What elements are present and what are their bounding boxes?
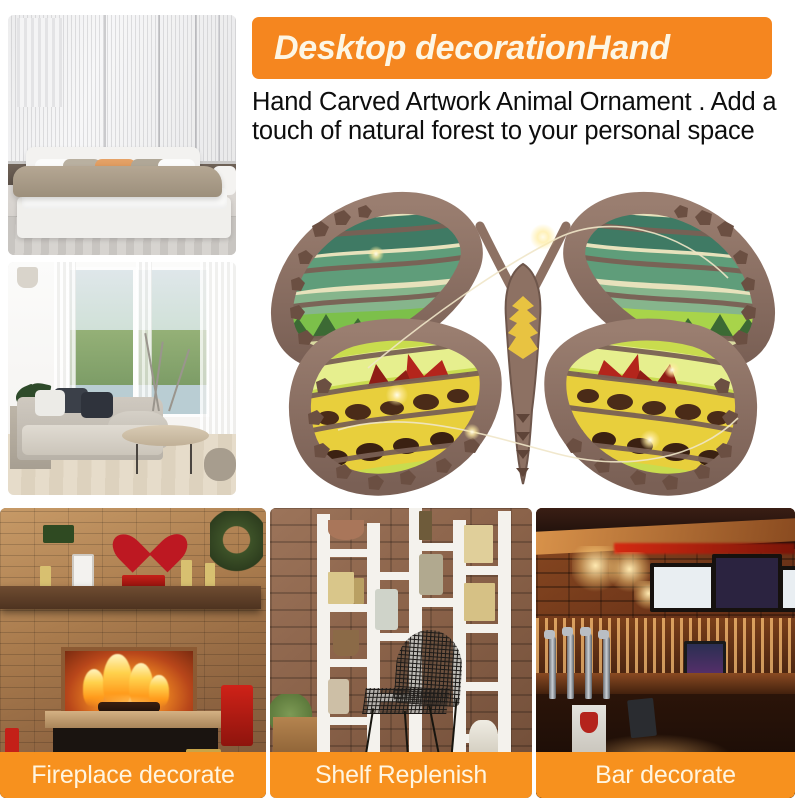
tv-screen-left bbox=[650, 563, 715, 612]
wire-chair-seat bbox=[362, 688, 449, 714]
wooden-butterfly-wall-art bbox=[258, 168, 788, 508]
product-subtitle: Hand Carved Artwork Animal Ornament . Ad… bbox=[252, 88, 800, 146]
beer-tap-head-1 bbox=[544, 630, 555, 639]
butterfly-body bbox=[506, 264, 541, 484]
tv-screen-center bbox=[712, 554, 782, 611]
shelf-board-1 bbox=[317, 549, 380, 558]
book-row-3 bbox=[419, 511, 432, 540]
shelf-board-2 bbox=[317, 604, 380, 613]
beer-tap-4 bbox=[603, 636, 610, 700]
beer-tap-2 bbox=[567, 633, 574, 700]
bowl-decor bbox=[328, 520, 365, 540]
beer-tap-head-4 bbox=[598, 630, 609, 639]
shelf-board-3 bbox=[317, 659, 380, 668]
heart-wreath-decoration bbox=[125, 517, 176, 563]
beer-tap-1 bbox=[549, 636, 556, 700]
beer-tap-head-3 bbox=[580, 627, 591, 636]
beer-tap-head-2 bbox=[562, 627, 573, 636]
liquor-bottles bbox=[536, 618, 795, 673]
pine-wreath-decoration bbox=[210, 511, 263, 575]
shelf-board-11 bbox=[453, 624, 511, 633]
shelf-caption: Shelf Replenish bbox=[270, 752, 532, 798]
book-stack-1 bbox=[328, 572, 354, 604]
bar-caption: Bar decorate bbox=[536, 752, 795, 798]
vase-decor bbox=[375, 589, 399, 630]
bedroom-wall-panel bbox=[8, 15, 236, 164]
bedroom-photo bbox=[8, 15, 236, 255]
butterfly-lower-left-wing bbox=[288, 328, 508, 498]
fireplace-panel: Fireplace decorate bbox=[0, 508, 266, 798]
shelf-board-12 bbox=[453, 682, 511, 691]
shelf-board-8 bbox=[409, 543, 467, 552]
jar-decor bbox=[328, 679, 349, 714]
wall-groove-texture bbox=[17, 18, 63, 107]
floor-pouf bbox=[204, 448, 236, 481]
red-lantern bbox=[221, 685, 253, 746]
book-stack-2 bbox=[354, 578, 364, 604]
bar-panel: Bar decorate bbox=[536, 508, 795, 798]
fireplace-caption: Fireplace decorate bbox=[0, 752, 266, 798]
bar-caption-text: Bar decorate bbox=[595, 761, 736, 790]
living-room-scene bbox=[8, 262, 236, 495]
product-infographic: Desktop decorationHand Hand Carved Artwo… bbox=[0, 0, 800, 800]
jug-decor bbox=[419, 554, 443, 595]
pendant-lamp bbox=[17, 267, 38, 288]
shelf-caption-text: Shelf Replenish bbox=[315, 761, 487, 790]
garland-mantel bbox=[43, 525, 75, 542]
shelf-column-5 bbox=[498, 511, 511, 769]
fireplace-mantel bbox=[0, 586, 261, 609]
shelf-board-5 bbox=[367, 572, 422, 581]
cushion-dark-2 bbox=[81, 392, 113, 418]
firebox bbox=[61, 647, 197, 719]
potted-plant-shelf bbox=[333, 630, 359, 656]
header-banner: Desktop decorationHand bbox=[252, 17, 772, 79]
bedroom-scene bbox=[8, 15, 236, 255]
bar-menu-sign bbox=[572, 705, 606, 757]
card-payment-terminal[interactable] bbox=[627, 698, 657, 738]
beer-tap-3 bbox=[585, 633, 592, 700]
banner-title: Desktop decorationHand bbox=[274, 31, 670, 65]
bar-sign-crest bbox=[580, 712, 598, 733]
bar-counter bbox=[536, 673, 795, 693]
bed-duvet bbox=[13, 166, 223, 197]
flame-2 bbox=[103, 654, 131, 708]
shelf-board-10 bbox=[453, 566, 511, 575]
fireplace-caption-text: Fireplace decorate bbox=[31, 761, 234, 790]
shelf-panel: Shelf Replenish bbox=[270, 508, 532, 798]
book-row-1 bbox=[464, 525, 493, 563]
living-room-photo bbox=[8, 262, 236, 495]
book-row-2 bbox=[464, 583, 495, 621]
shelf-board-9 bbox=[409, 598, 467, 607]
tv-screen-right bbox=[779, 566, 795, 612]
butterfly-lower-right-wing bbox=[538, 328, 758, 498]
sheer-curtain-right bbox=[200, 262, 236, 444]
hearth-slab bbox=[45, 711, 229, 728]
cushion-white bbox=[35, 390, 65, 416]
